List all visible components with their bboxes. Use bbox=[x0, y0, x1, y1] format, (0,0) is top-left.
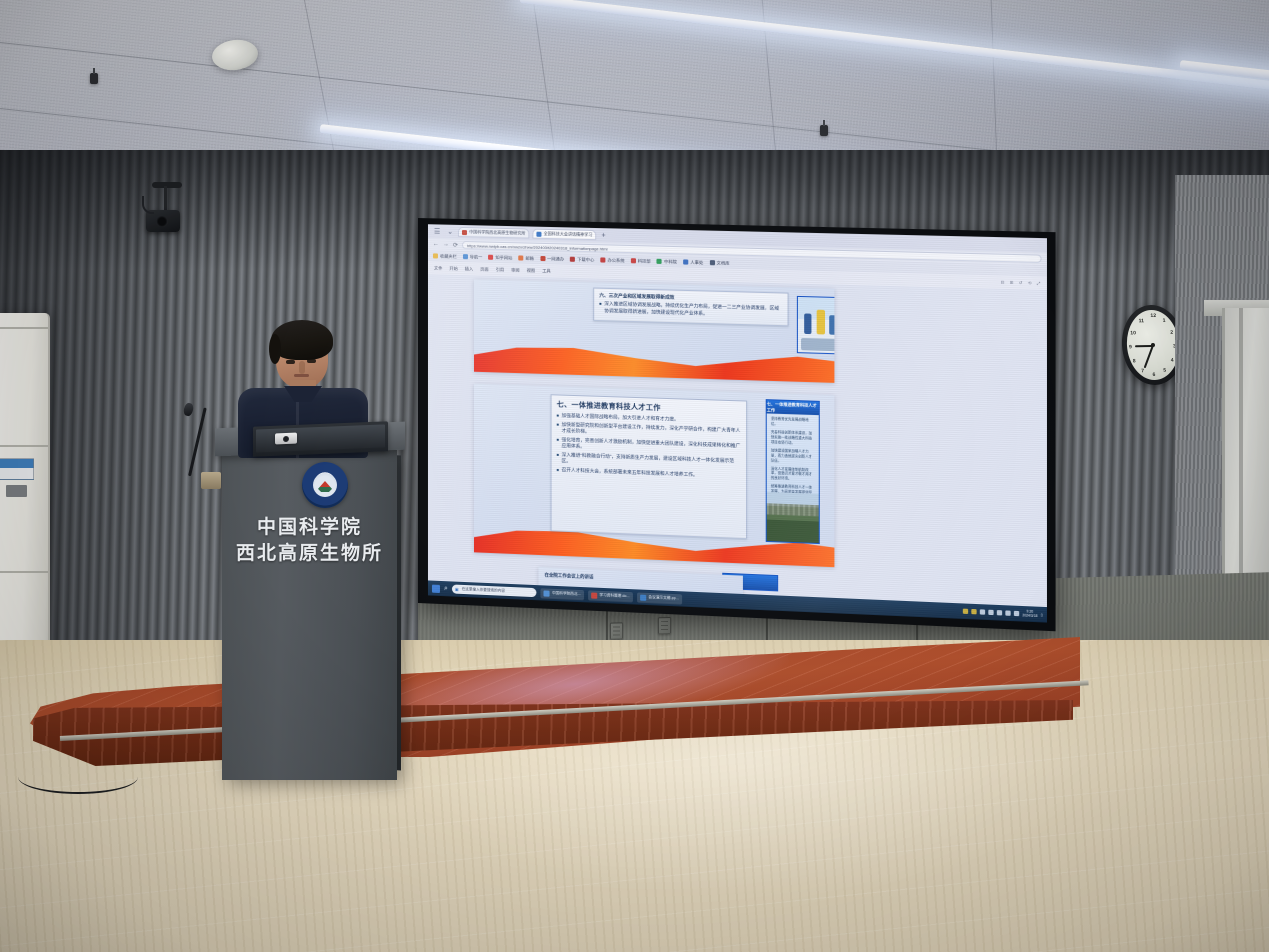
bookmark-icon bbox=[631, 258, 636, 263]
bookmark-label: 办公系统 bbox=[607, 257, 624, 263]
menu-item-insert[interactable]: 插入 bbox=[465, 266, 473, 272]
document-canvas[interactable]: 六、三次产业和区域发展取得新成效 ■ 深入推进区域协调发展战略，持续优化生产力布… bbox=[428, 274, 1047, 607]
smoke-detector-icon bbox=[820, 125, 828, 136]
redo-icon[interactable]: ⟲ bbox=[1028, 280, 1032, 285]
slide-bullet: ■ 深入推进区域协调发展战略，持续优化生产力布局，促进一二三产业协调发展，区域协… bbox=[599, 301, 782, 319]
info-card-paragraph: 加快建设国家战略人才力量，着力造就拔尖创新人才队伍。 bbox=[771, 448, 815, 465]
back-icon[interactable]: ← bbox=[433, 241, 439, 247]
taskbar-app[interactable]: 学习资料整理.do... bbox=[588, 590, 633, 602]
bookmark-label: 知乎网站 bbox=[495, 254, 512, 260]
windows-icon[interactable] bbox=[432, 584, 440, 592]
taskbar-app-label: 学习资料整理.do... bbox=[599, 593, 629, 599]
ac-panel-seam bbox=[0, 327, 48, 329]
slide-main[interactable]: 七、一体推进教育科技人才工作 ■加强基础人才国际战略布局，加大引进人才和育才力度… bbox=[474, 384, 834, 567]
conference-room-scene: 12 1 2 3 4 5 6 7 8 9 10 11 bbox=[0, 0, 1269, 952]
menu-item-reference[interactable]: 引用 bbox=[496, 266, 504, 272]
smoke-detector-icon bbox=[90, 73, 98, 84]
info-card-header: 七、一体推进教育科技人才工作 bbox=[767, 400, 819, 415]
bookmark-label: 邮箱 bbox=[525, 255, 533, 261]
clock-number: 9 bbox=[1129, 344, 1132, 350]
menu-item-home[interactable]: 开始 bbox=[449, 265, 457, 271]
app-icon bbox=[543, 590, 549, 596]
minimize-icon[interactable]: ⊟ bbox=[1001, 280, 1005, 285]
search-placeholder: 在这里输入你要搜索的内容 bbox=[462, 587, 505, 594]
bookmark-icon bbox=[657, 259, 662, 264]
bookmark-item[interactable]: 办公系统 bbox=[600, 257, 624, 264]
bookmark-item[interactable]: 下载中心 bbox=[570, 256, 594, 263]
forward-icon[interactable]: → bbox=[443, 242, 449, 248]
led-display-screen[interactable]: ☰ ⌄ 中国科学院西北高原生物研究所 全国科技大会讲话精神学习 + ← → ⟳ … bbox=[418, 218, 1056, 631]
bookmark-icon bbox=[600, 257, 605, 262]
network-icon[interactable] bbox=[963, 609, 968, 614]
webcam bbox=[275, 433, 297, 445]
ceiling-camera-icon bbox=[140, 182, 192, 242]
slide-upper[interactable]: 六、三次产业和区域发展取得新成效 ■ 深入推进区域协调发展战略，持续优化生产力布… bbox=[474, 279, 834, 382]
cloud-icon[interactable] bbox=[997, 610, 1002, 615]
bookmark-icon bbox=[540, 256, 545, 261]
wall-outlet[interactable] bbox=[658, 617, 671, 634]
ac-panel-seam bbox=[0, 571, 48, 573]
maximize-icon[interactable]: ⊞ bbox=[1010, 280, 1014, 285]
menu-item-review[interactable]: 审阅 bbox=[511, 267, 519, 273]
ac-display-panel bbox=[0, 458, 34, 480]
clock-number: 1 bbox=[1163, 318, 1166, 324]
menu-item-page[interactable]: 页面 bbox=[480, 266, 488, 272]
bookmark-icon bbox=[570, 257, 575, 262]
show-desktop-button[interactable]: ▯ bbox=[1041, 612, 1043, 616]
institute-name-line1: 中国科学院 bbox=[222, 512, 397, 539]
bookmark-label: 人事处 bbox=[690, 259, 703, 265]
institute-logo bbox=[302, 462, 348, 508]
bookmark-item[interactable]: 邮箱 bbox=[518, 255, 534, 261]
browser-tab[interactable]: 全国科技大会讲话精神学习 bbox=[533, 229, 597, 241]
bookmark-label: 中科院 bbox=[664, 258, 677, 264]
clock-number: 2 bbox=[1170, 330, 1173, 336]
menu-item-view[interactable]: 视图 bbox=[527, 267, 535, 273]
ac-badge bbox=[6, 485, 27, 497]
slide-info-card: 七、一体推进教育科技人才工作 坚持教育优先发展战略地位。 完善科技创新体系建设，… bbox=[766, 399, 820, 544]
microphone-base bbox=[201, 472, 221, 489]
taskbar-app[interactable]: 中国科学院西北... bbox=[540, 588, 583, 600]
taskbar-app-label: 中国科学院西北... bbox=[552, 591, 581, 597]
clock-center-pin bbox=[1151, 343, 1155, 347]
wall-outlet[interactable] bbox=[610, 622, 623, 639]
laptop[interactable] bbox=[253, 421, 388, 456]
bullet-marker: ■ bbox=[557, 421, 559, 434]
ac-panel-seam bbox=[0, 445, 48, 447]
bookmark-label: 科技部 bbox=[638, 258, 651, 264]
slide-textbox: 六、三次产业和区域发展取得新成效 ■ 深入推进区域协调发展战略，持续优化生产力布… bbox=[593, 288, 788, 327]
shield-icon[interactable] bbox=[1005, 610, 1010, 615]
search-box-icon: ▣ bbox=[455, 587, 459, 592]
volume-icon[interactable] bbox=[971, 609, 976, 614]
bookmark-item[interactable]: 人事处 bbox=[683, 259, 703, 266]
ime-icon[interactable] bbox=[988, 610, 993, 615]
url-text: https://www.nwipb.cas.cn/xwzx/zhxw/20240… bbox=[467, 243, 607, 251]
system-tray: 9:20 2024/3/18 ▯ bbox=[963, 607, 1043, 618]
bookmark-icon bbox=[709, 260, 714, 265]
bullet-marker: ■ bbox=[557, 436, 559, 449]
clock-number: 5 bbox=[1163, 368, 1166, 374]
clock-minute-hand bbox=[1144, 345, 1154, 368]
presenter-hair bbox=[271, 320, 333, 360]
new-tab-button[interactable]: + bbox=[599, 232, 607, 239]
bookmark-label: 导航一 bbox=[470, 254, 483, 260]
info-card-paragraph: 深化人才发展体制机制改革，营造识才爱才敬才用才的良好环境。 bbox=[771, 466, 815, 483]
presenter-nose bbox=[299, 361, 305, 374]
tab-favicon bbox=[462, 230, 467, 235]
floor-cable bbox=[18, 760, 138, 794]
clock-number: 6 bbox=[1152, 372, 1155, 378]
clock-number: 8 bbox=[1133, 358, 1136, 364]
bullet-marker: ■ bbox=[557, 413, 559, 420]
bookmark-icon bbox=[463, 254, 468, 259]
toolbar-right-actions: ⊟ ⊞ ↺ ⟲ ⤢ bbox=[1001, 280, 1041, 286]
fullscreen-icon[interactable]: ⤢ bbox=[1037, 280, 1041, 285]
bookmark-icon bbox=[488, 255, 493, 260]
bookmark-item[interactable]: 文档库 bbox=[709, 260, 729, 267]
search-input[interactable]: ▣ 在这里输入你要搜索的内容 bbox=[452, 584, 536, 597]
chevron-down-icon[interactable]: ⌄ bbox=[445, 228, 455, 236]
search-icon[interactable]: ⌕ bbox=[444, 585, 448, 593]
up-arrow-icon[interactable] bbox=[1014, 611, 1019, 616]
bookmark-item[interactable]: 导航一 bbox=[463, 254, 483, 260]
browser-tab-label: 全国科技大会讲话精神学习 bbox=[544, 231, 593, 238]
browser-tab-label: 中国科学院西北高原生物研究所 bbox=[469, 229, 525, 236]
window-menu-icon[interactable]: ☰ bbox=[432, 227, 442, 235]
slide-ribbon-graphic bbox=[474, 342, 834, 383]
reload-icon[interactable]: ⟳ bbox=[453, 241, 458, 248]
tab-favicon bbox=[537, 231, 542, 236]
screen-content: ☰ ⌄ 中国科学院西北高原生物研究所 全国科技大会讲话精神学习 + ← → ⟳ … bbox=[428, 224, 1047, 622]
bookmark-label: 文档库 bbox=[717, 260, 730, 266]
bookmark-icon bbox=[433, 253, 438, 258]
bookmark-item[interactable]: 收藏夹栏 bbox=[433, 253, 457, 260]
bookmark-icon bbox=[518, 255, 523, 260]
podium: 中国科学院 西北高原生物所 bbox=[222, 450, 397, 780]
menu-item-file[interactable]: 文件 bbox=[434, 265, 442, 271]
bookmark-item[interactable]: 知乎网站 bbox=[488, 254, 512, 261]
clock-date: 2024/3/18 bbox=[1022, 614, 1037, 618]
menu-item-tools[interactable]: 工具 bbox=[542, 268, 550, 274]
info-card-paragraph: 坚持教育优先发展战略地位。 bbox=[771, 417, 815, 429]
clock-number: 7 bbox=[1141, 368, 1144, 374]
bullet-marker: ■ bbox=[557, 451, 559, 464]
info-card-photo bbox=[767, 492, 819, 543]
bookmark-item[interactable]: 科技部 bbox=[631, 258, 651, 265]
bookmark-label: 一网通办 bbox=[547, 256, 564, 262]
clock-face: 12 1 2 3 4 5 6 7 8 9 10 11 bbox=[1125, 310, 1181, 381]
battery-icon[interactable] bbox=[980, 609, 985, 614]
slide-bullet-text: 深入推进区域协调发展战略，持续优化生产力布局，促进一二三产业协调发展，区域协调发… bbox=[604, 301, 782, 319]
bookmark-icon bbox=[683, 259, 688, 264]
bookmark-label: 收藏夹栏 bbox=[440, 253, 457, 259]
photo-lab-scene bbox=[798, 297, 835, 354]
presenter-mouth bbox=[294, 374, 309, 377]
bookmark-item[interactable]: 一网通办 bbox=[540, 255, 564, 262]
taskbar-app[interactable]: 会议演示文稿.pp... bbox=[637, 592, 682, 604]
institute-name-line2: 西北高原生物所 bbox=[222, 538, 397, 565]
bookmark-item[interactable]: 中科院 bbox=[657, 258, 677, 265]
app-icon bbox=[640, 594, 646, 600]
bullet-marker: ■ bbox=[599, 301, 601, 314]
clock-number: 4 bbox=[1171, 358, 1174, 364]
taskbar-clock[interactable]: 9:20 2024/3/18 bbox=[1022, 610, 1037, 618]
undo-icon[interactable]: ↺ bbox=[1019, 280, 1023, 285]
slide-image-card bbox=[797, 296, 835, 355]
bookmark-label: 下载中心 bbox=[577, 256, 594, 262]
app-icon bbox=[591, 592, 597, 598]
clock-number: 10 bbox=[1130, 330, 1136, 336]
slide-textbox: 七、一体推进教育科技人才工作 ■加强基础人才国际战略布局，加大引进人才和育才力度… bbox=[551, 394, 747, 539]
presenter-eye bbox=[286, 360, 295, 364]
taskbar-app-label: 会议演示文稿.pp... bbox=[648, 595, 678, 601]
bullet-marker: ■ bbox=[557, 467, 559, 474]
info-card-paragraph: 完善科技创新体系建设，加快实施一批战略性重大科技项目攻坚行动。 bbox=[771, 430, 815, 447]
clock-number: 11 bbox=[1139, 318, 1145, 324]
clock-number: 12 bbox=[1150, 313, 1156, 319]
browser-tab[interactable]: 中国科学院西北高原生物研究所 bbox=[458, 227, 529, 239]
